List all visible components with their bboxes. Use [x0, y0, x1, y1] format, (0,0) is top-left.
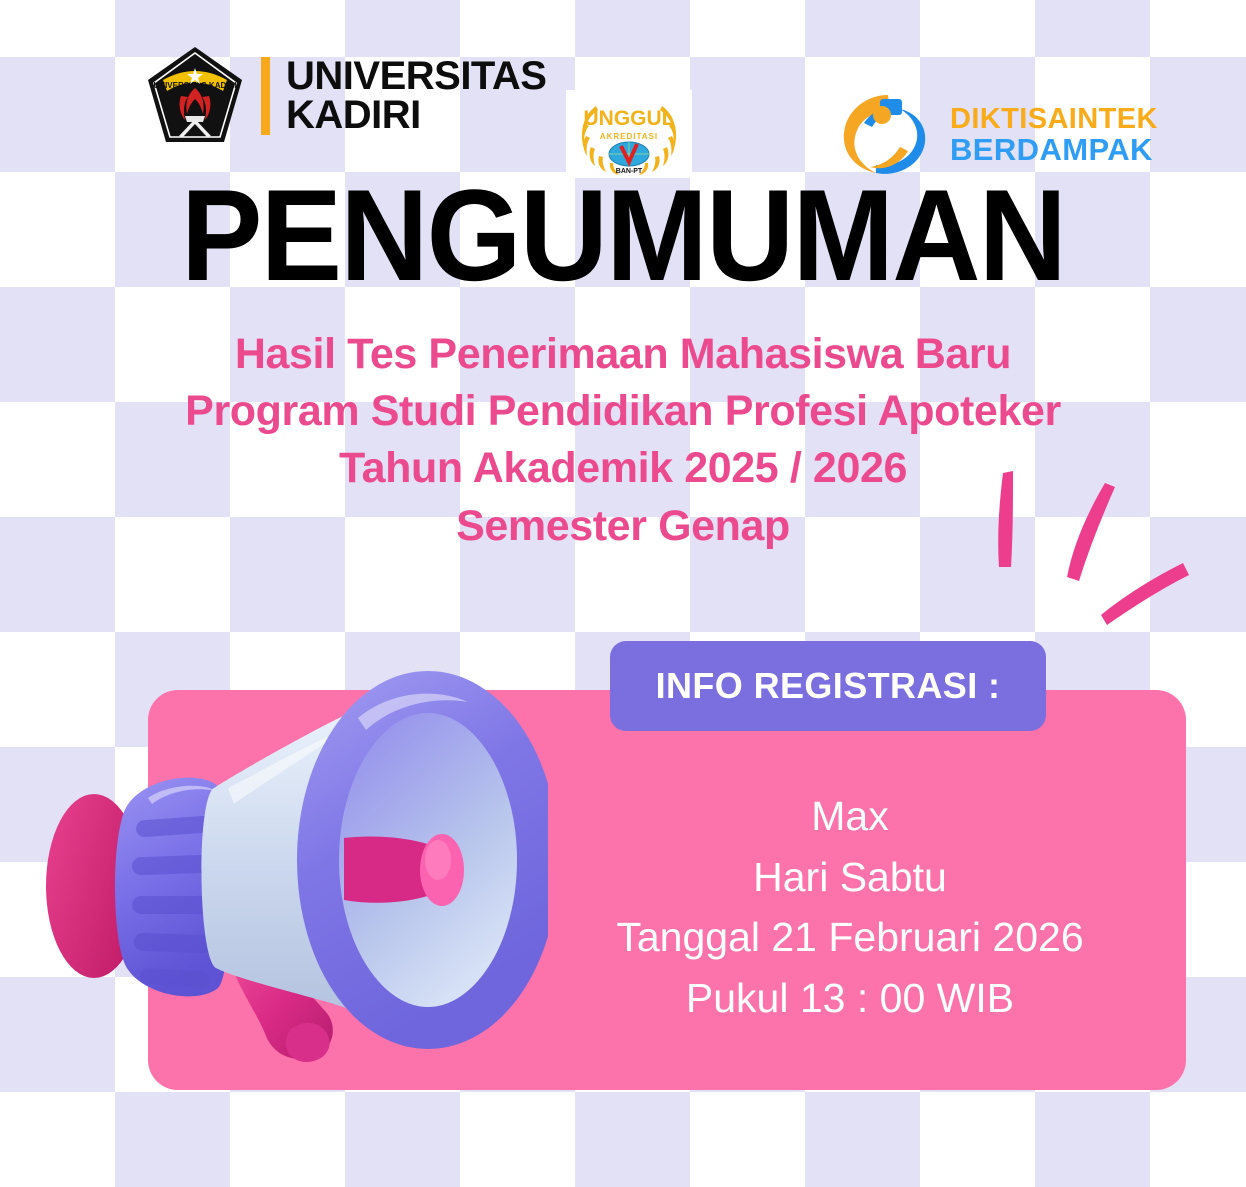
subtitle-line-1: Hasil Tes Penerimaan Mahasiswa Baru: [0, 326, 1246, 383]
diktisaintek-wordmark: DIKTISAINTEK BERDAMPAK: [950, 105, 1158, 165]
registration-line-1: Max: [560, 786, 1140, 847]
university-name-line1: UNIVERSITAS: [286, 57, 546, 96]
brush-strokes-decoration: [975, 455, 1195, 635]
registration-line-4: Pukul 13 : 00 WIB: [560, 968, 1140, 1029]
registration-details: Max Hari Sabtu Tanggal 21 Februari 2026 …: [560, 786, 1140, 1029]
universitas-kadiri-emblem-icon: UNIVERSITAS KADIRI: [143, 44, 247, 148]
diktisaintek-line1: DIKTISAINTEK: [950, 105, 1158, 134]
accreditation-grade-text: UNGGUL: [584, 107, 675, 130]
registration-line-2: Hari Sabtu: [560, 847, 1140, 908]
diktisaintek-line2: BERDAMPAK: [950, 134, 1158, 165]
megaphone-illustration-icon: [28, 612, 548, 1082]
page-title: PENGUMUMAN: [37, 170, 1208, 300]
universitas-kadiri-logo: UNIVERSITAS KADIRI UNIVERSITAS KADIRI: [143, 44, 546, 148]
university-name-line2: KADIRI: [286, 96, 546, 135]
logo-row: UNIVERSITAS KADIRI UNIVERSITAS KADIRI: [0, 42, 1246, 160]
info-registrasi-badge: INFO REGISTRASI :: [610, 641, 1046, 731]
announcement-poster: UNIVERSITAS KADIRI UNIVERSITAS KADIRI: [0, 0, 1246, 1187]
svg-text:AKREDITASI: AKREDITASI: [600, 132, 658, 141]
university-name: UNIVERSITAS KADIRI: [286, 57, 546, 135]
registration-line-3: Tanggal 21 Februari 2026: [560, 907, 1140, 968]
logo-divider-bar: [261, 57, 270, 135]
subtitle-line-2: Program Studi Pendidikan Profesi Apoteke…: [0, 383, 1246, 440]
